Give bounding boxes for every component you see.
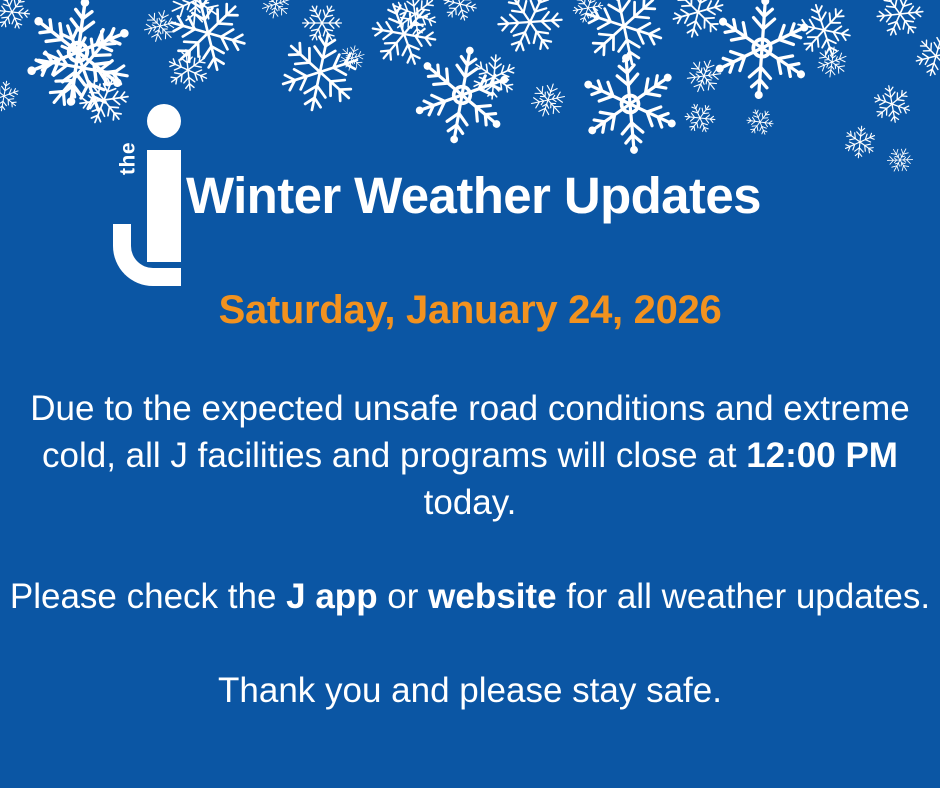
- check-updates-paragraph: Please check the J app or website for al…: [0, 573, 940, 620]
- check-updates-lead: Please check the: [10, 577, 286, 616]
- logo-j-dot: [147, 104, 181, 138]
- logo-j-hook: [113, 224, 181, 286]
- check-updates-tail: for all weather updates.: [557, 577, 931, 616]
- page-title: Winter Weather Updates: [186, 168, 761, 224]
- closure-text-after: today.: [424, 483, 517, 522]
- closure-time: 12:00 PM: [746, 436, 898, 475]
- paragraph-spacer-1: [0, 526, 940, 573]
- date-line: Saturday, January 24, 2026: [0, 287, 940, 333]
- closing-paragraph: Thank you and please stay safe.: [0, 667, 940, 714]
- paragraph-spacer-2: [0, 620, 940, 667]
- closure-paragraph: Due to the expected unsafe road conditio…: [0, 385, 940, 526]
- website-mention: website: [428, 577, 556, 616]
- j-app-mention: J app: [286, 577, 377, 616]
- winter-weather-announcement-poster: the Winter Weather Updates Saturday, Jan…: [0, 0, 940, 788]
- logo-the-word: the: [118, 129, 139, 189]
- check-updates-middle: or: [378, 577, 429, 616]
- announcement-body: Due to the expected unsafe road conditio…: [0, 385, 940, 714]
